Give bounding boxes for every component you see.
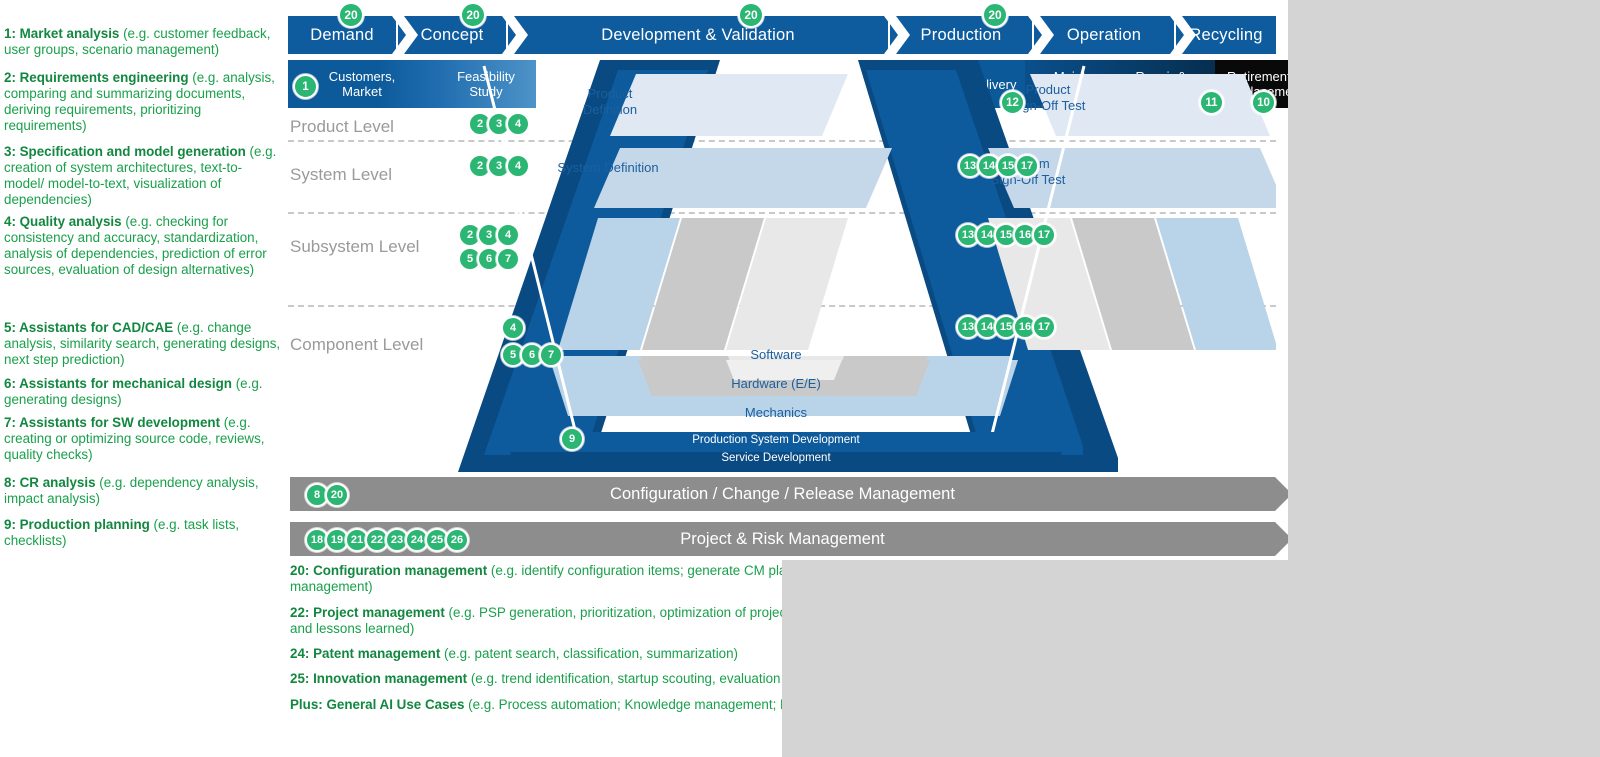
vee-right-badge-17-2: 17 [1032,315,1056,339]
process-badge-11: 11 [1199,90,1224,115]
management-bar-0[interactable]: Configuration / Change / Release Managem… [290,477,1275,511]
left-legend-panel: 1: Market analysis (e.g. customer feedba… [0,0,286,757]
vee-layer-label-2: Mechanics [282,405,1270,420]
legend-item-title: 2: Requirements engineering [4,70,192,85]
legend-item-title: 5: Assistants for CAD/CAE [4,320,177,335]
management-bar-label: Project & Risk Management [680,530,885,549]
bottom-gray-overlay [782,560,1288,757]
vee-layer-label-0: Software [282,347,1270,362]
legend-item-8: 8: CR analysis (e.g. dependency analysis… [4,475,282,507]
stage-badge-20-2: 20 [738,2,764,28]
stage-label: Recycling [1189,26,1262,45]
stage-badge-20-0: 20 [338,2,364,28]
legend-item-title: 7: Assistants for SW development [4,415,224,430]
block-label-line: Product [583,86,637,102]
block-label-line: System Definition [557,160,658,176]
legend-item-9: 9: Production planning (e.g. task lists,… [4,517,282,549]
stage-development-validation[interactable]: Development & Validation [508,16,888,54]
legend-item-title: 4: Quality analysis [4,214,125,229]
block-label-line: Definition [583,102,637,118]
vee-right-badge-17-1: 17 [1032,223,1056,247]
legend-item-2: 2: Requirements engineering (e.g. analys… [4,70,282,134]
stage-operation[interactable]: Operation [1034,16,1174,54]
vee-left-badge-4-0: 4 [506,112,530,136]
lifecycle-stage-bar: DemandConceptDevelopment & ValidationPro… [288,16,1276,54]
vee-left-badge-7-5: 7 [539,343,563,367]
bottom-legend-title: Plus: General AI Use Cases [290,697,468,712]
stage-label: Operation [1067,26,1141,45]
stage-label: Development & Validation [601,26,794,45]
vee-right-badge-17-0: 17 [1015,154,1039,178]
legend-item-title: 6: Assistants for mechanical design [4,376,236,391]
vee-model-diagram: Customers,MarketFeasibilityStudyDelivery… [288,60,1276,472]
stage-label: Demand [310,26,374,45]
stage-badge-20-1: 20 [460,2,486,28]
management-bar-label: Configuration / Change / Release Managem… [610,485,955,504]
process-badge-12: 12 [1000,90,1025,115]
vee-layer-label-3: Production System Development [282,434,1270,446]
diagram-root: 1: Market analysis (e.g. customer feedba… [0,0,1600,757]
bottom-legend-title: 22: Project management [290,605,449,620]
stage-label: Production [921,26,1002,45]
legend-item-6: 6: Assistants for mechanical design (e.g… [4,376,282,408]
management-badge-20-0: 20 [325,483,349,507]
legend-item-title: 8: CR analysis [4,475,99,490]
legend-item-title: 1: Market analysis [4,26,123,41]
vee-layer-label-1: Hardware (E/E) [282,376,1270,391]
legend-item-4: 4: Quality analysis (e.g. checking for c… [4,214,282,278]
legend-item-title: 3: Specification and model generation [4,144,250,159]
label-product-definition: ProductDefinition [510,86,710,118]
bottom-legend-title: 20: Configuration management [290,563,491,578]
vee-left-badge-4-2: 4 [496,223,520,247]
legend-item-7: 7: Assistants for SW development (e.g. c… [4,415,282,463]
vee-left-badge-7-3: 7 [496,247,520,271]
stage-badge-20-3: 20 [982,2,1008,28]
process-badge-1: 1 [293,74,318,99]
bottom-legend-title: 25: Innovation management [290,671,471,686]
bottom-legend-desc: (e.g. patent search, classification, sum… [444,646,738,661]
management-badge-26-1: 26 [445,528,469,552]
legend-item-1: 1: Market analysis (e.g. customer feedba… [4,26,282,58]
vee-left-badge-4-1: 4 [506,154,530,178]
stage-production[interactable]: Production [890,16,1032,54]
right-gray-overlay [1288,0,1600,757]
stage-label: Concept [421,26,484,45]
process-badge-10: 10 [1251,90,1276,115]
vee-layer-label-4: Service Development [282,452,1270,464]
vee-badge-9: 9 [560,427,584,451]
vee-left-badge-4-4: 4 [501,316,525,340]
legend-item-3: 3: Specification and model generation (e… [4,144,282,208]
legend-item-title: 9: Production planning [4,517,154,532]
bottom-legend-title: 24: Patent management [290,646,444,661]
legend-item-5: 5: Assistants for CAD/CAE (e.g. change a… [4,320,282,368]
